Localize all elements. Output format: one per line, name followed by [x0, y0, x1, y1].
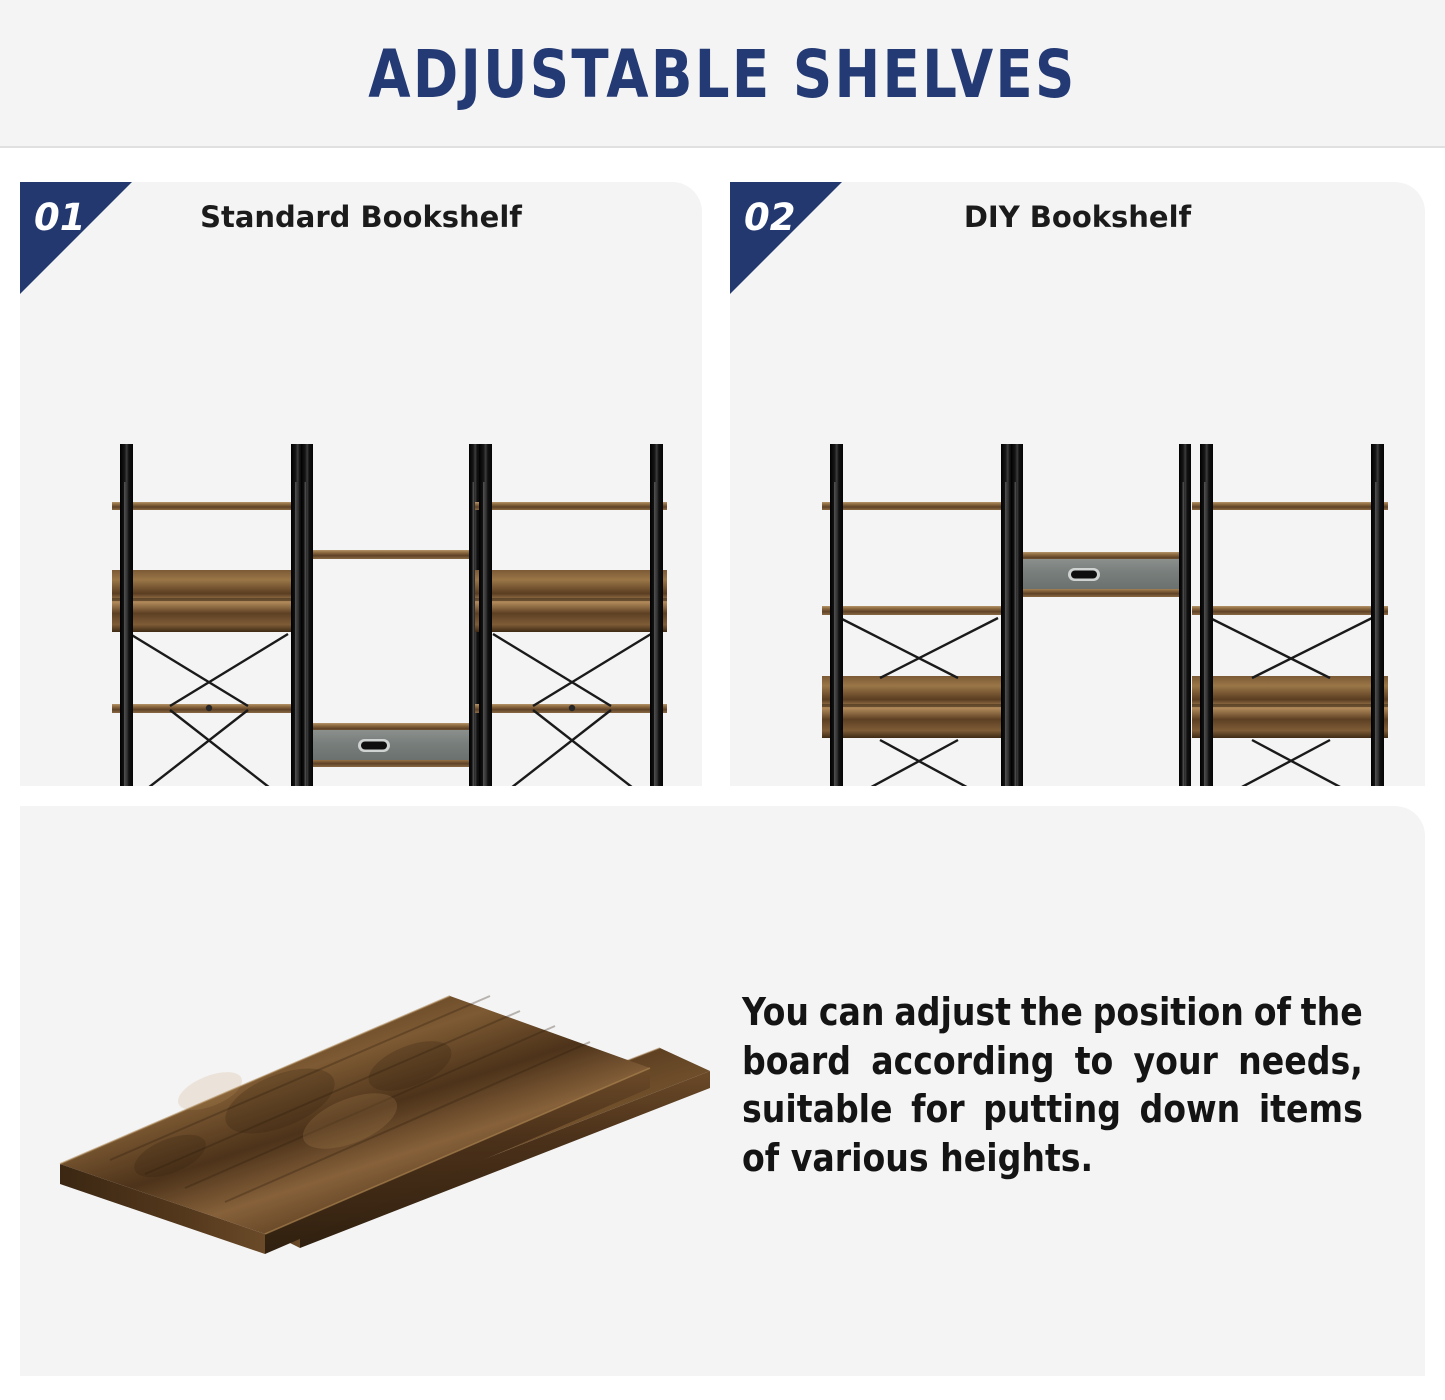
- right-unit: [475, 444, 667, 786]
- drawer-box: [304, 730, 472, 760]
- middle-unit: [1011, 444, 1191, 786]
- panel-badge-number: 01: [34, 196, 86, 239]
- left-unit: [822, 444, 1014, 786]
- middle-unit: [301, 444, 481, 786]
- panel-badge-number: 02: [744, 196, 796, 239]
- board-description: Youcanadjustthepositionofthe boardaccord…: [742, 988, 1363, 1183]
- board-description-line: Youcanadjustthepositionofthe: [742, 988, 1363, 1037]
- page-title: ADJUSTABLE SHELVES: [58, 36, 1387, 113]
- drawer-box: [1014, 559, 1182, 589]
- panel-diy-bookshelf: 02 DIY Bookshelf: [730, 182, 1425, 786]
- panel-adjustable-board: Youcanadjustthepositionofthe boardaccord…: [20, 806, 1425, 1376]
- board-description-line: of various heights.: [742, 1134, 1363, 1183]
- board-description-line: suitableforputtingdownitems: [742, 1085, 1363, 1134]
- right-unit: [1192, 444, 1388, 786]
- board-description-line: boardaccordingtoyourneeds,: [742, 1037, 1363, 1086]
- left-unit: [112, 444, 304, 786]
- panel-standard-bookshelf: 01 Standard Bookshelf: [20, 182, 702, 786]
- page-header: ADJUSTABLE SHELVES: [0, 0, 1445, 148]
- stacked-wood-boards-figure: [50, 916, 710, 1266]
